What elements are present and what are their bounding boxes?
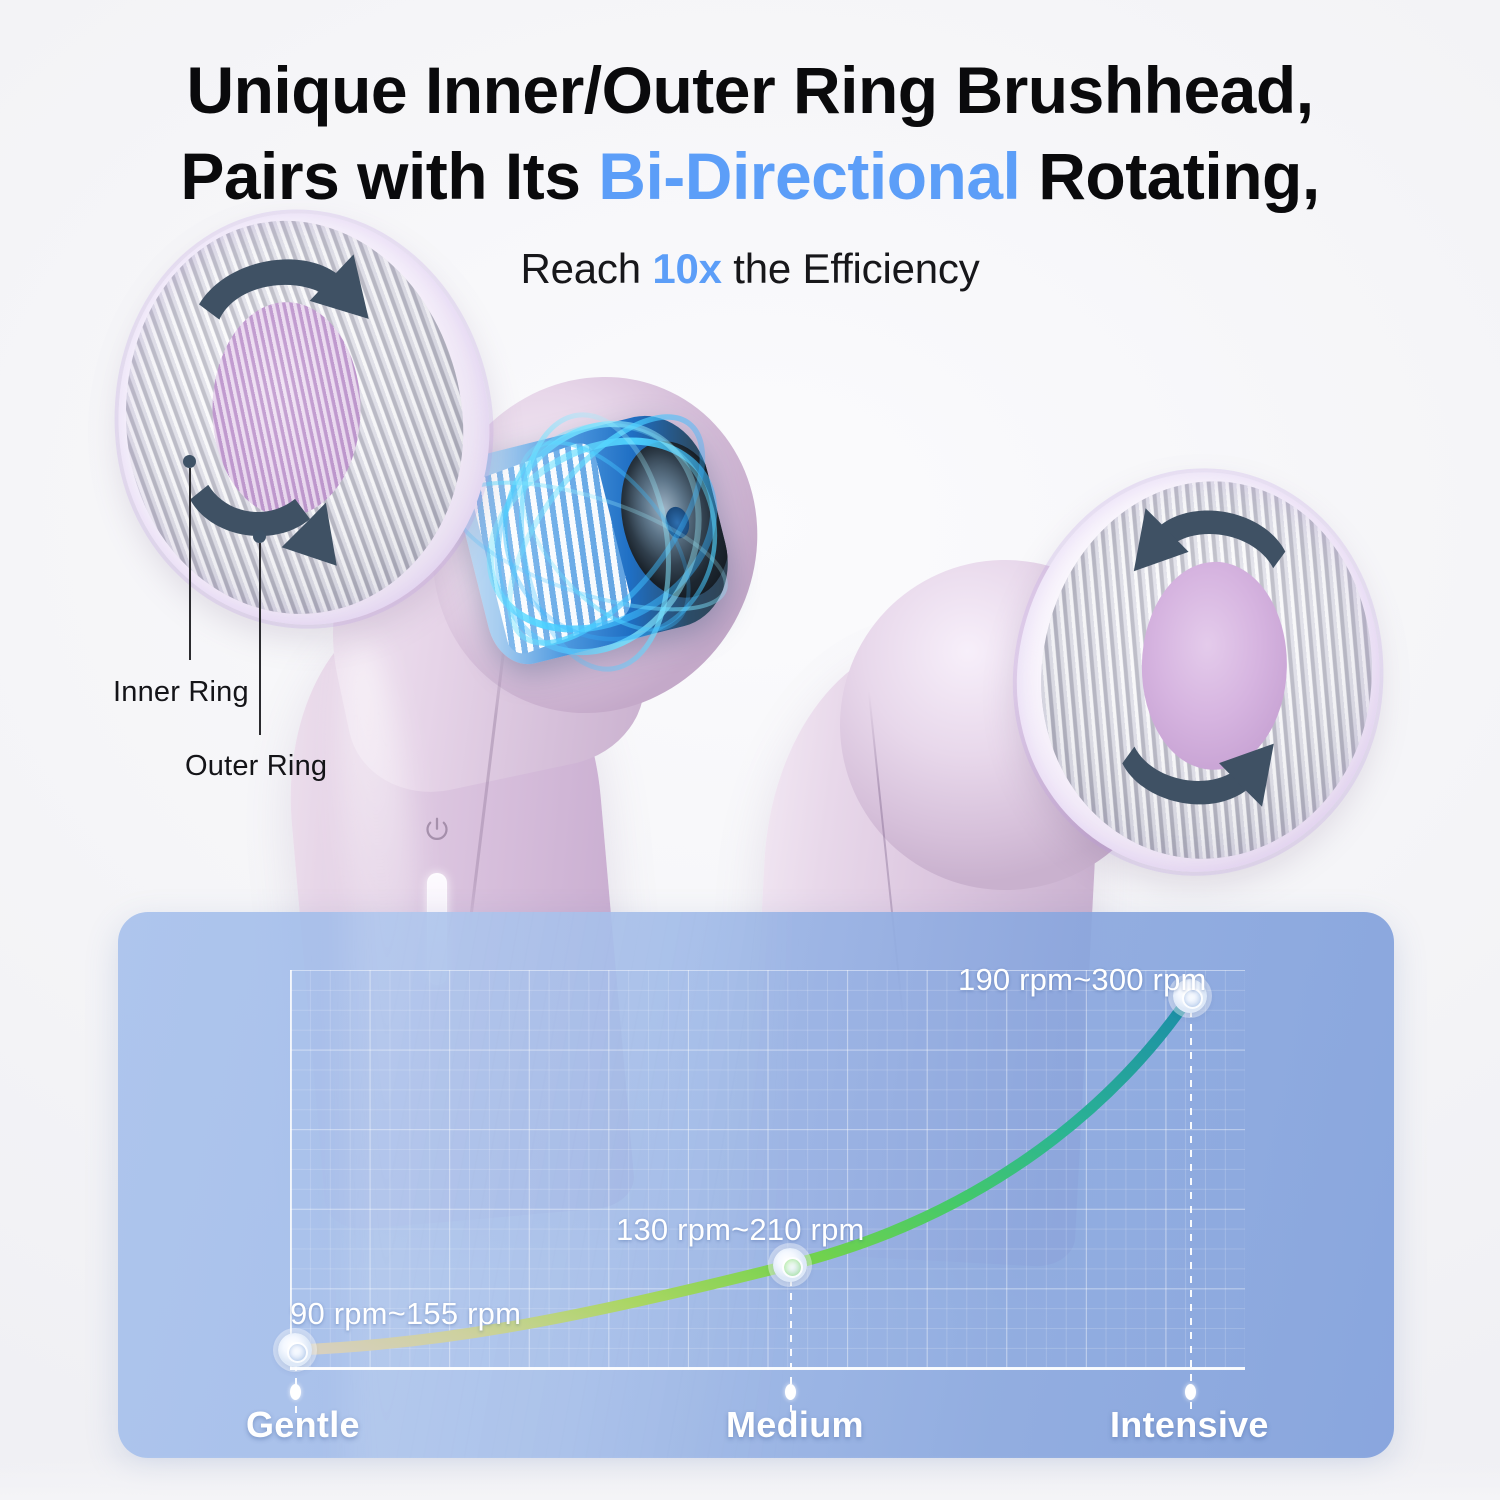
headline-line-2-pre: Pairs with Its (180, 139, 598, 213)
callout-inner-ring: Inner Ring (113, 676, 249, 709)
page-title: Unique Inner/Outer Ring Brushhead, Pairs… (0, 48, 1500, 220)
data-point-medium[interactable] (773, 1248, 807, 1282)
outer-ring-leader-line (259, 543, 261, 735)
chart-x-axis (290, 1367, 1245, 1370)
point-label-gentle: 90 rpm~155 rpm (290, 1296, 521, 1332)
headline-line-1: Unique Inner/Outer Ring Brushhead, (0, 48, 1500, 134)
inner-ring-anchor-dot (183, 455, 196, 468)
headline-accent-bi-directional: Bi-Directional (598, 139, 1020, 213)
point-label-medium: 130 rpm~210 rpm (616, 1212, 865, 1248)
x-label-intensive: Intensive (1110, 1404, 1269, 1446)
data-point-gentle[interactable] (278, 1333, 312, 1367)
subheadline: Reach 10x the Efficiency (0, 245, 1500, 293)
headline-line-2: Pairs with Its Bi-Directional Rotating, (0, 134, 1500, 220)
subheadline-accent-10x: 10x (652, 245, 721, 292)
point-label-intensive: 190 rpm~300 rpm (958, 962, 1207, 998)
power-icon[interactable] (422, 815, 452, 845)
tick-dot-medium (785, 1384, 796, 1400)
headline-line-1-comma: , (1296, 53, 1314, 127)
headline-line-1-text: Unique Inner/Outer Ring Brushhead (186, 53, 1295, 127)
callout-outer-ring: Outer Ring (185, 750, 327, 783)
x-label-medium: Medium (726, 1404, 864, 1446)
inner-ring-leader-line (189, 468, 191, 660)
rotation-arrow-left-bottom (188, 471, 311, 545)
subheadline-pre: Reach (520, 245, 652, 292)
bottom-fade (0, 1456, 1500, 1500)
rotation-arrow-right-top (1158, 504, 1289, 569)
tick-dot-intensive (1185, 1384, 1196, 1400)
outer-ring-anchor-dot (253, 530, 266, 543)
subheadline-post: the Efficiency (722, 245, 980, 292)
headline-line-2-post: Rotating, (1020, 139, 1319, 213)
rotation-arrow-right-bottom (1118, 745, 1249, 810)
tick-dot-gentle (290, 1384, 301, 1400)
x-label-gentle: Gentle (246, 1404, 360, 1446)
product-infographic: Unique Inner/Outer Ring Brushhead, Pairs… (0, 0, 1500, 1500)
brush-head-right (995, 451, 1403, 892)
rotation-arrows-right (995, 451, 1403, 892)
rpm-speed-chart-panel: 90 rpm~155 rpm 130 rpm~210 rpm 190 rpm~3… (118, 912, 1394, 1458)
